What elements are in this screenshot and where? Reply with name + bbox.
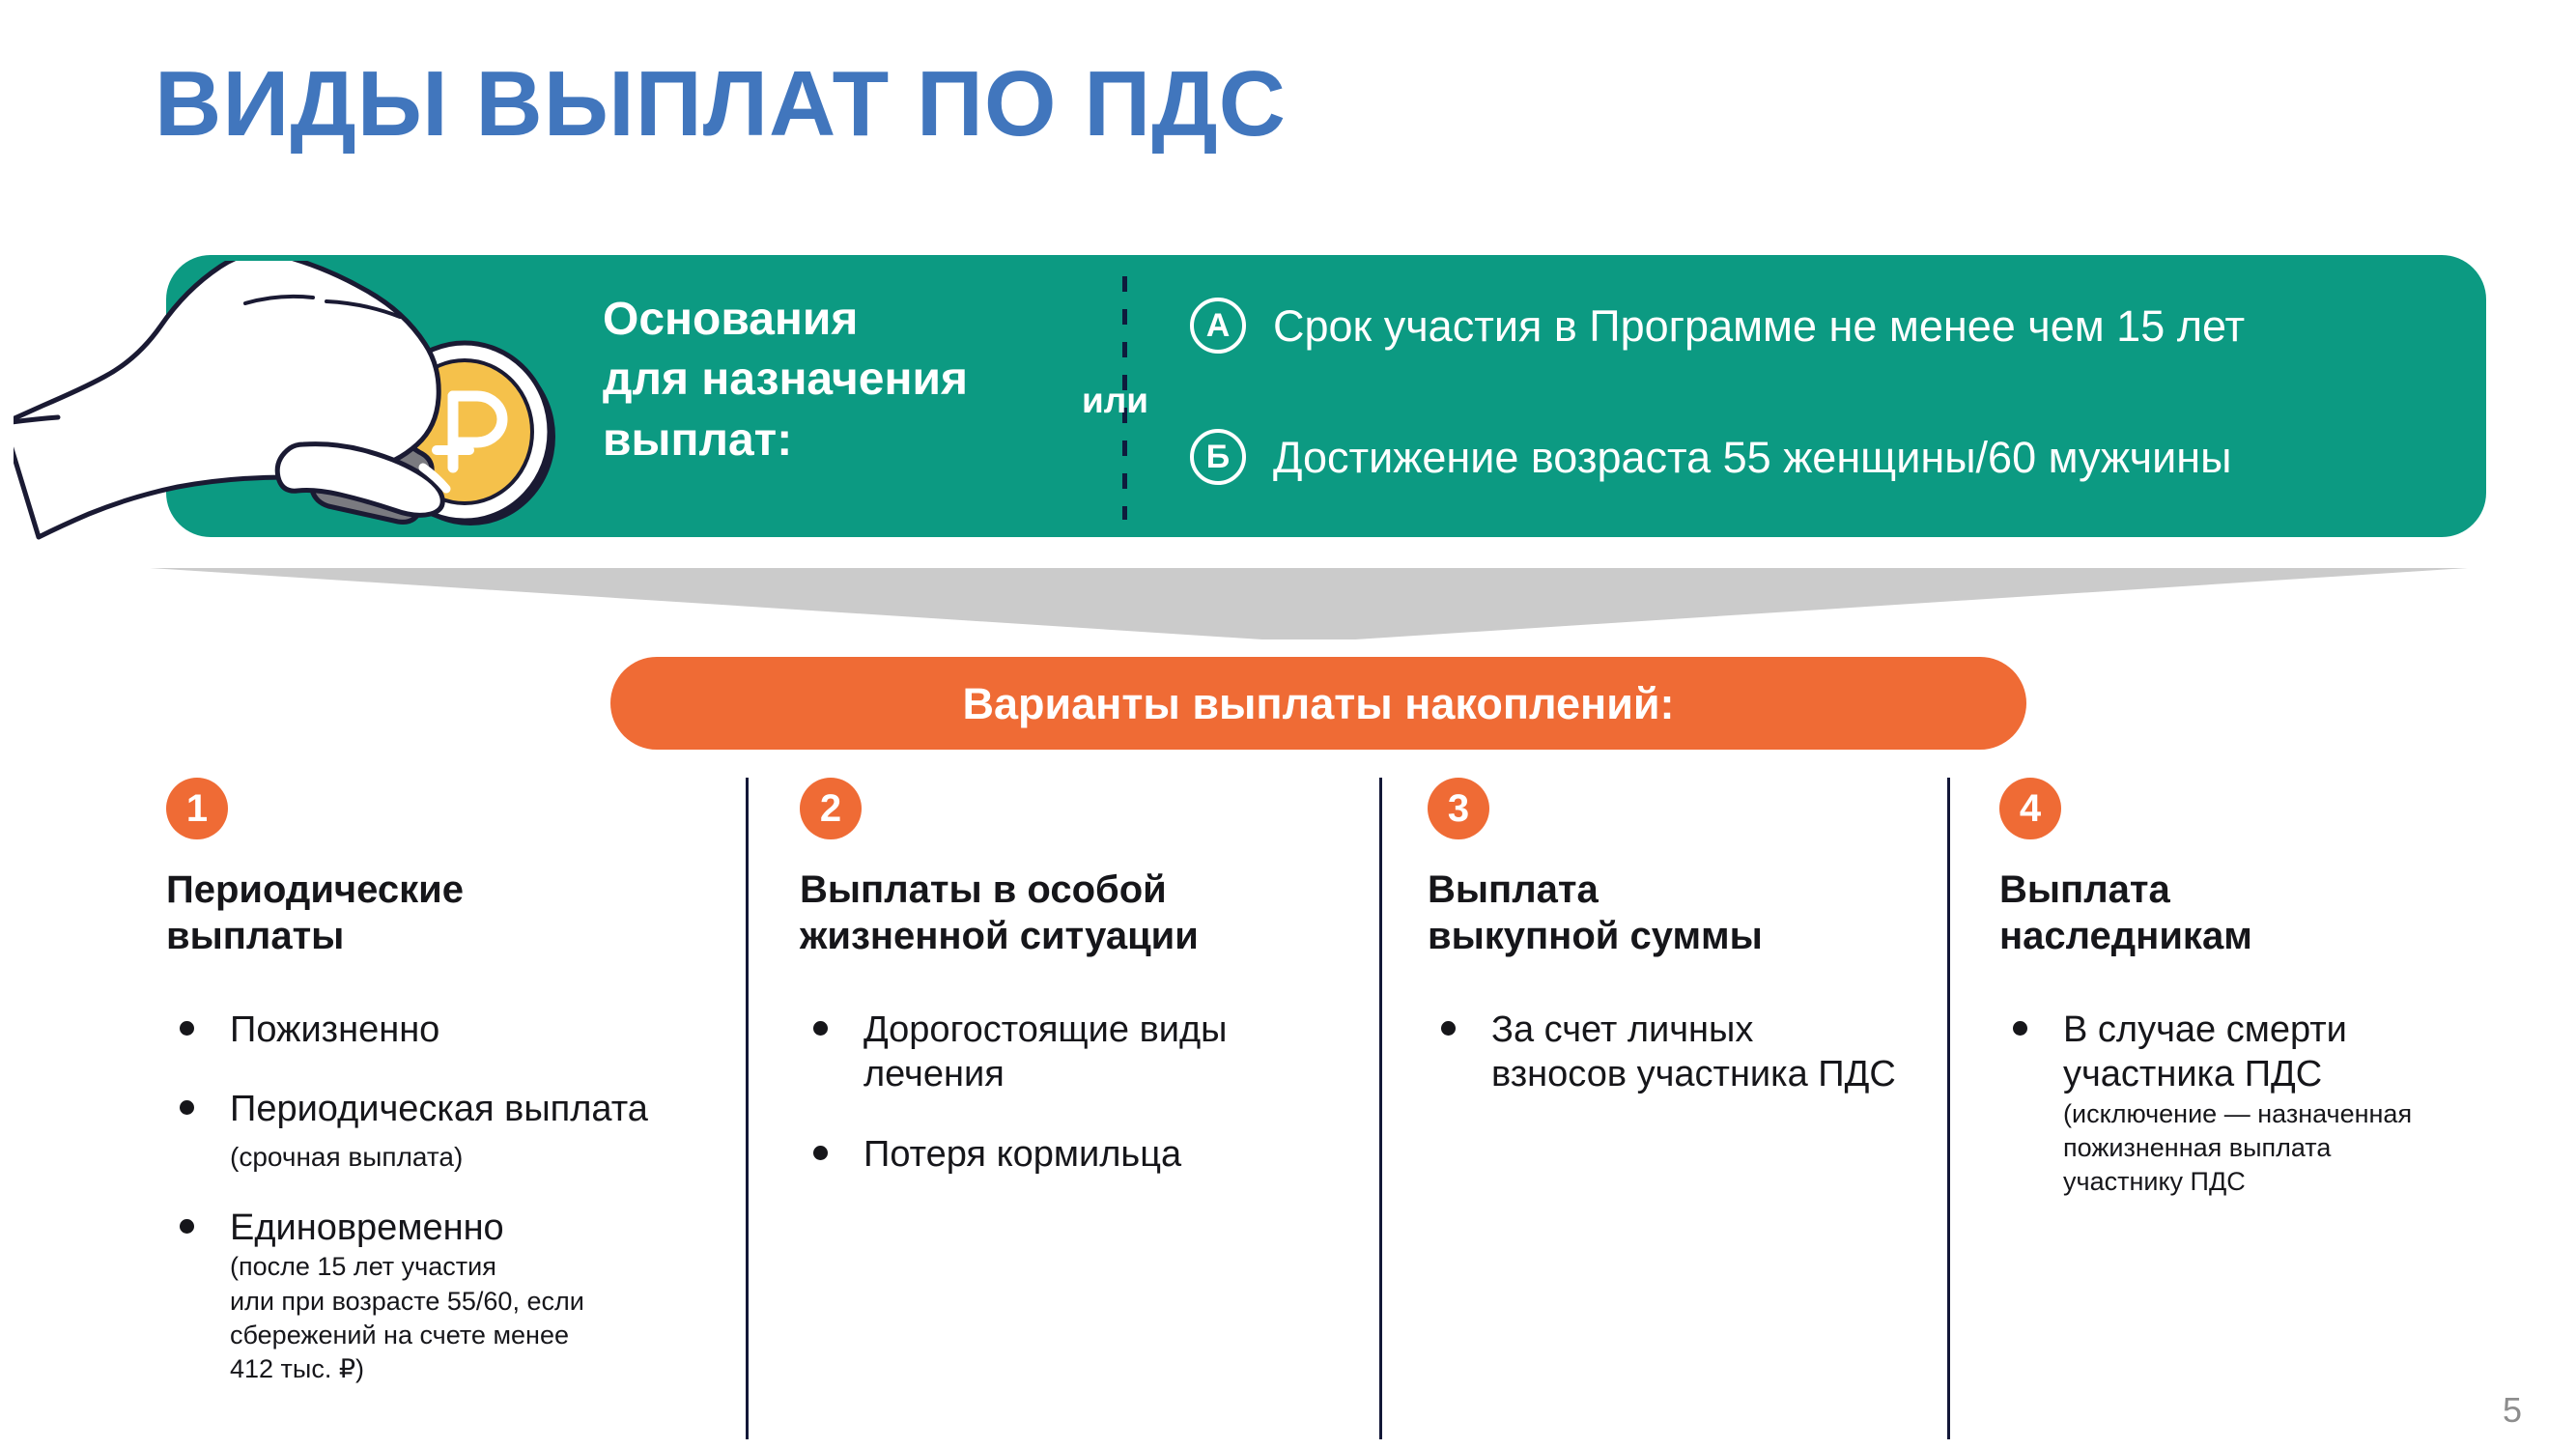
- condition-text-a: Срок участия в Программе не менее чем 15…: [1273, 304, 2245, 348]
- column-divider-3: [1947, 778, 1950, 1439]
- bullet-text: Периодическая выплата: [230, 1089, 648, 1129]
- bullet-text: Пожизненно: [230, 1009, 439, 1050]
- bullet-text: За счет личных взносов участника ПДС: [1491, 1009, 1896, 1094]
- column-title-3-line-1: Выплата: [1428, 867, 1911, 913]
- column-divider-2: [1379, 778, 1382, 1439]
- options-banner: Варианты выплаты накоплений:: [610, 657, 2026, 750]
- bullet-dot-icon: [813, 1021, 828, 1036]
- column-title-4: Выплата наследникам: [1999, 867, 2502, 959]
- bullet-note: (после 15 лет участия или при возрасте 5…: [230, 1250, 707, 1385]
- bullet-dot-icon: [180, 1100, 194, 1115]
- column-number-badge-3: 3: [1428, 778, 1489, 839]
- column-title-1: Периодические выплаты: [166, 867, 707, 959]
- column-title-4-line-2: наследникам: [1999, 913, 2502, 959]
- bullet-text: Потеря кормильца: [863, 1134, 1181, 1175]
- list-item: Потеря кормильца: [800, 1132, 1341, 1177]
- column-number-badge-2: 2: [800, 778, 862, 839]
- column-title-2-line-2: жизненной ситуации: [800, 913, 1341, 959]
- options-banner-label: Варианты выплаты накоплений:: [962, 682, 1674, 725]
- column-surrender-value-payout: 3 Выплата выкупной суммы За счет личных …: [1428, 778, 1911, 1132]
- downward-arrow-icon: [150, 568, 2468, 639]
- bullet-dot-icon: [2013, 1021, 2027, 1036]
- list-item: Единовременно (после 15 лет участия или …: [166, 1206, 707, 1386]
- condition-row-b: Б Достижение возраста 55 женщины/60 мужч…: [1190, 429, 2231, 485]
- list-item: Дорогостоящие виды лечения: [800, 1008, 1317, 1097]
- column-title-1-line-1: Периодические: [166, 867, 707, 913]
- column-periodic-payments: 1 Периодические выплаты Пожизненно Перио…: [166, 778, 707, 1421]
- bullet-text: Единовременно: [230, 1207, 504, 1248]
- grounds-heading-line-1: Основания: [603, 290, 1144, 350]
- payout-options-columns: 1 Периодические выплаты Пожизненно Перио…: [0, 778, 2576, 1444]
- column-bullets-4: В случае смерти участника ПДС (исключени…: [1999, 1008, 2502, 1199]
- conditions-list: А Срок участия в Программе не менее чем …: [1190, 274, 2475, 522]
- bullet-text: В случае смерти участника ПДС: [2063, 1009, 2347, 1094]
- list-item: В случае смерти участника ПДС (исключени…: [1999, 1008, 2449, 1199]
- grounds-banner-heading: Основания для назначения выплат:: [603, 290, 1144, 470]
- grounds-banner: Основания для назначения выплат: А Срок …: [166, 255, 2486, 537]
- column-number-badge-1: 1: [166, 778, 228, 839]
- condition-badge-b: Б: [1190, 429, 1246, 485]
- list-item: Периодическая выплата (срочная выплата): [166, 1087, 707, 1177]
- bullet-text: Дорогостоящие виды лечения: [863, 1009, 1228, 1094]
- bullet-note-inline: (срочная выплата): [230, 1142, 463, 1172]
- column-bullets-2: Дорогостоящие виды лечения Потеря кормил…: [800, 1008, 1341, 1177]
- condition-text-b: Достижение возраста 55 женщины/60 мужчин…: [1273, 436, 2231, 479]
- bullet-dot-icon: [813, 1146, 828, 1160]
- column-bullets-1: Пожизненно Периодическая выплата (срочна…: [166, 1008, 707, 1386]
- grounds-heading-line-2: для назначения: [603, 350, 1144, 410]
- list-item: За счет личных взносов участника ПДС: [1428, 1008, 1897, 1097]
- slide-root: ВИДЫ ВЫПЛАТ ПО ПДС Основания для назначе…: [0, 0, 2576, 1449]
- grounds-heading-line-3: выплат:: [603, 411, 1144, 470]
- bullet-dot-icon: [180, 1021, 194, 1036]
- list-item: Пожизненно: [166, 1008, 707, 1052]
- bullet-dot-icon: [1441, 1021, 1456, 1036]
- column-number-badge-4: 4: [1999, 778, 2061, 839]
- condition-badge-a: А: [1190, 298, 1246, 354]
- column-heirs-payout: 4 Выплата наследникам В случае смерти уч…: [1999, 778, 2502, 1234]
- column-title-1-line-2: выплаты: [166, 913, 707, 959]
- page-title: ВИДЫ ВЫПЛАТ ПО ПДС: [155, 56, 1287, 154]
- or-label: или: [1082, 383, 1148, 418]
- page-number: 5: [2503, 1393, 2522, 1428]
- column-title-3-line-2: выкупной суммы: [1428, 913, 1911, 959]
- column-title-3: Выплата выкупной суммы: [1428, 867, 1911, 959]
- column-title-2-line-1: Выплаты в особой: [800, 867, 1341, 913]
- column-special-life-situation: 2 Выплаты в особой жизненной ситуации До…: [800, 778, 1341, 1211]
- bullet-dot-icon: [180, 1219, 194, 1234]
- bullet-note: (исключение — назначенная пожизненная вы…: [2063, 1097, 2527, 1199]
- column-bullets-3: За счет личных взносов участника ПДС: [1428, 1008, 1911, 1097]
- column-divider-1: [746, 778, 749, 1439]
- column-title-2: Выплаты в особой жизненной ситуации: [800, 867, 1341, 959]
- condition-row-a: А Срок участия в Программе не менее чем …: [1190, 298, 2245, 354]
- column-title-4-line-1: Выплата: [1999, 867, 2502, 913]
